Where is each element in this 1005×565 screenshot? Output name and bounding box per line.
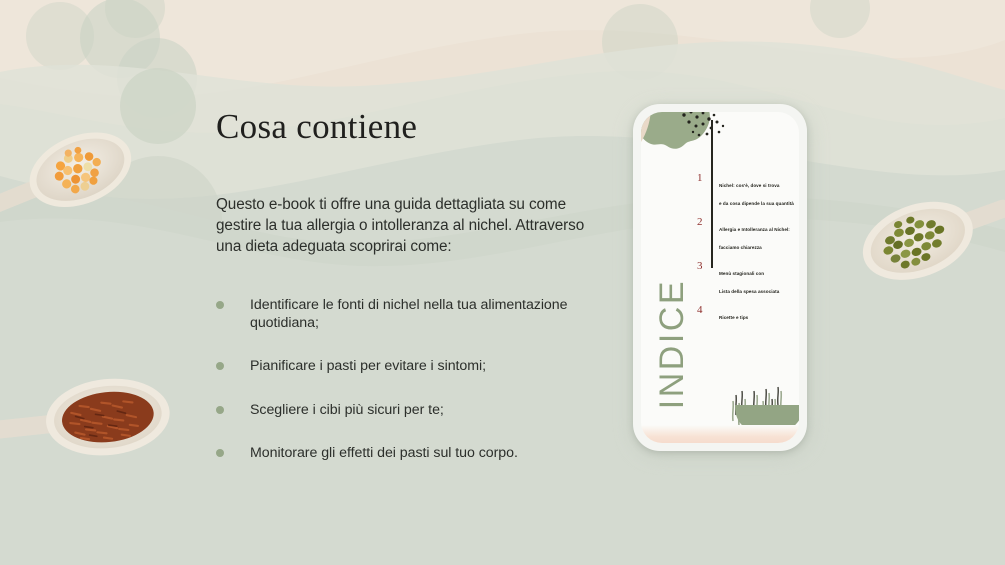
bullet-dot-icon bbox=[216, 406, 224, 414]
phone-screen: 1 Nichel: cos'è, dove si trova e da cosa… bbox=[641, 112, 799, 443]
index-item: 3 Menù stagionali con Lista della spesa … bbox=[697, 262, 799, 298]
list-item-label: Scegliere i cibi più sicuri per te; bbox=[250, 402, 444, 418]
index-entry-label: Allergia e Intolleranza al Nichel: facci… bbox=[719, 227, 790, 250]
list-item-label: Identificare le fonti di nichel nella tu… bbox=[250, 297, 567, 331]
list-item: Monitorare gli effetti dei pasti sul tuo… bbox=[216, 444, 616, 462]
index-list: 1 Nichel: cos'è, dove si trova e da cosa… bbox=[697, 174, 799, 324]
index-item: 2 Allergia e Intolleranza al Nichel: fac… bbox=[697, 218, 799, 254]
bullet-dot-icon bbox=[216, 449, 224, 457]
index-entry-label: Nichel: cos'è, dove si trova e da cosa d… bbox=[719, 183, 794, 206]
screen-bottom-band bbox=[641, 425, 799, 443]
index-item: 4 Ricette e tips bbox=[697, 306, 799, 324]
index-item: 1 Nichel: cos'è, dove si trova e da cosa… bbox=[697, 174, 799, 210]
list-item: Pianificare i pasti per evitare i sintom… bbox=[216, 357, 616, 375]
spoon-red-lentils-image bbox=[0, 122, 137, 234]
spoon-flaxseeds-image bbox=[0, 362, 176, 472]
bullet-dot-icon bbox=[216, 362, 224, 370]
bullet-dot-icon bbox=[216, 301, 224, 309]
spoon-mung-beans-image bbox=[855, 178, 1005, 292]
index-entry-label: Menù stagionali con Lista della spesa as… bbox=[719, 271, 779, 294]
green-leaf-blob-icon bbox=[641, 112, 733, 162]
indice-vertical-label: INDICE bbox=[653, 279, 692, 409]
page-title: Cosa contiene bbox=[216, 108, 616, 147]
list-item: Identificare le fonti di nichel nella tu… bbox=[216, 296, 616, 332]
index-number: 3 bbox=[697, 260, 703, 272]
index-number: 2 bbox=[697, 216, 703, 228]
list-item: Scegliere i cibi più sicuri per te; bbox=[216, 401, 616, 419]
index-number: 4 bbox=[697, 304, 703, 316]
benefits-list: Identificare le fonti di nichel nella tu… bbox=[216, 296, 616, 462]
index-number: 1 bbox=[697, 172, 703, 184]
list-item-label: Monitorare gli effetti dei pasti sul tuo… bbox=[250, 445, 518, 461]
list-item-label: Pianificare i pasti per evitare i sintom… bbox=[250, 358, 486, 374]
phone-mockup: 1 Nichel: cos'è, dove si trova e da cosa… bbox=[633, 104, 807, 451]
intro-paragraph: Questo e-book ti offre una guida dettagl… bbox=[216, 195, 611, 257]
slide-canvas: Cosa contiene Questo e-book ti offre una… bbox=[0, 0, 1005, 565]
text-column: Cosa contiene Questo e-book ti offre una… bbox=[216, 108, 616, 147]
index-entry-label: Ricette e tips bbox=[719, 315, 748, 320]
